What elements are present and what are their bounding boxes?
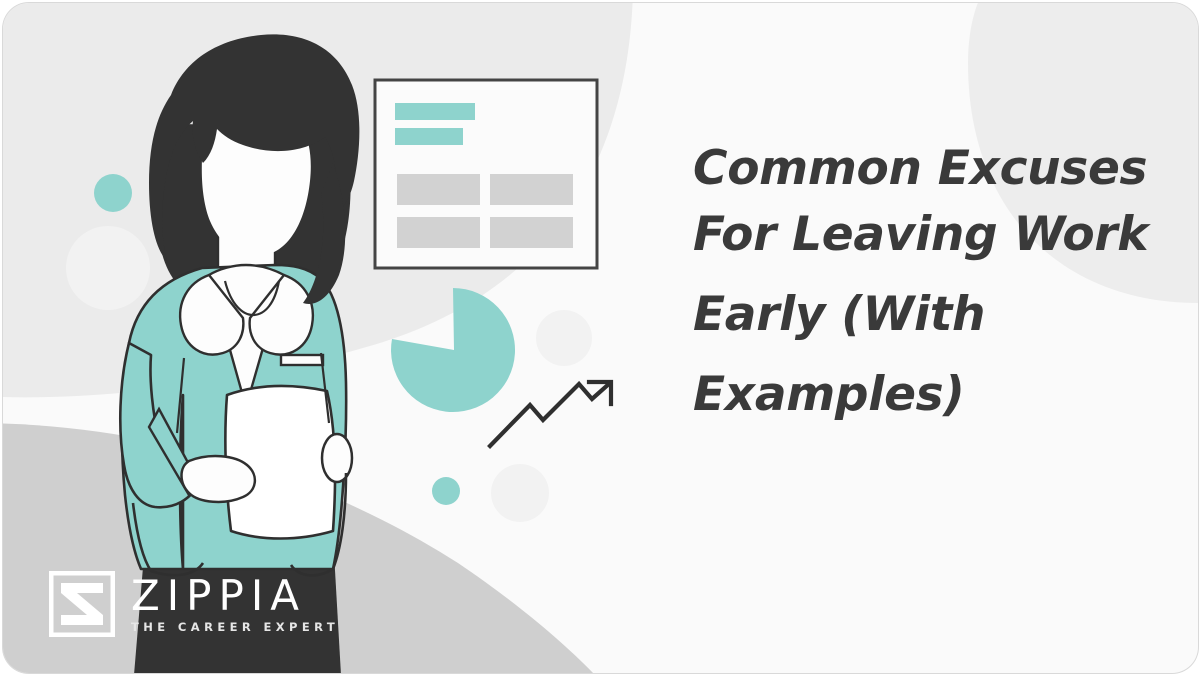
right-hand bbox=[322, 434, 352, 482]
pocket-badge bbox=[281, 355, 323, 365]
title-line-2: For Leaving Work bbox=[693, 202, 1163, 268]
left-hand bbox=[182, 456, 255, 502]
title-line-1: Common Excuses bbox=[693, 136, 1163, 202]
page-title: Common Excuses For Leaving Work Early (W… bbox=[693, 136, 1163, 428]
card-stage: Common Excuses For Leaving Work Early (W… bbox=[3, 3, 1198, 673]
title-line-4: Examples) bbox=[693, 362, 1163, 428]
graphic-card: Common Excuses For Leaving Work Early (W… bbox=[0, 0, 1201, 676]
title-line-3: Early (With bbox=[693, 282, 1163, 348]
